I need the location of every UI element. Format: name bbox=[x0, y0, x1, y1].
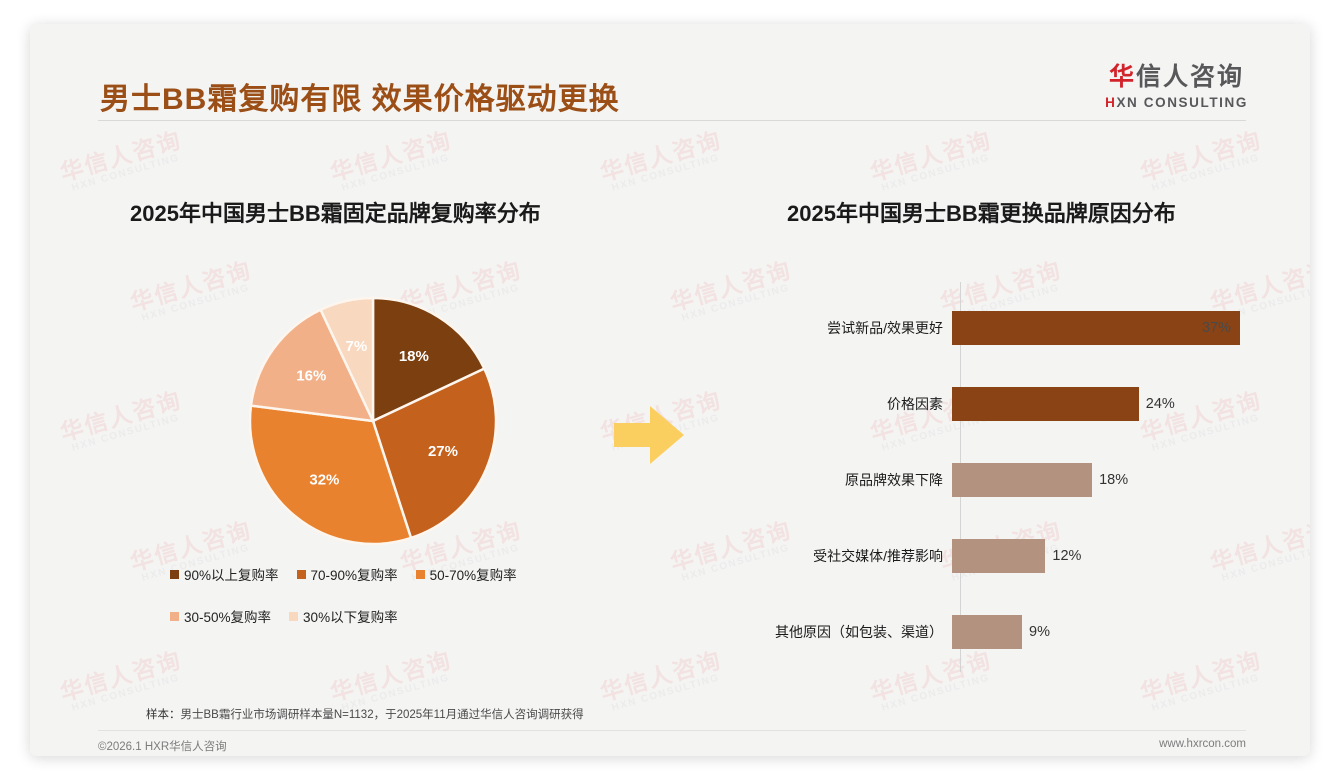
slide-footer: ©2026.1 HXR华信人咨询 www.hxrcon.com bbox=[98, 738, 1246, 754]
legend-label: 50-70%复购率 bbox=[430, 564, 517, 584]
footer-copyright: ©2026.1 HXR华信人咨询 bbox=[98, 738, 227, 754]
legend-item[interactable]: 30%以下复购率 bbox=[289, 606, 398, 626]
pie-chart-title: 2025年中国男士BB霜固定品牌复购率分布 bbox=[130, 196, 541, 228]
bar-fill bbox=[952, 311, 1240, 345]
legend-swatch-icon bbox=[170, 612, 179, 621]
bar-chart-row: 尝试新品/效果更好37% bbox=[770, 308, 1280, 348]
bar-chart-row: 受社交媒体/推荐影响12% bbox=[770, 536, 1280, 576]
bar-chart-row: 原品牌效果下降18% bbox=[770, 460, 1280, 500]
legend-label: 90%以上复购率 bbox=[184, 564, 279, 584]
pie-chart-legend: 90%以上复购率70-90%复购率50-70%复购率30-50%复购率30%以下… bbox=[170, 564, 600, 648]
legend-swatch-icon bbox=[289, 612, 298, 621]
bar-category-label: 尝试新品/效果更好 bbox=[770, 318, 952, 338]
footer-website: www.hxrcon.com bbox=[1159, 738, 1246, 754]
watermark: 华信人咨询HXN CONSULTING bbox=[58, 387, 188, 455]
watermark: 华信人咨询HXN CONSULTING bbox=[58, 127, 188, 195]
watermark: 华信人咨询HXN CONSULTING bbox=[598, 127, 728, 195]
legend-row: 30-50%复购率30%以下复购率 bbox=[170, 606, 600, 626]
bar-value-label: 24% bbox=[1146, 396, 1175, 412]
watermark: 华信人咨询HXN CONSULTING bbox=[868, 127, 998, 195]
legend-swatch-icon bbox=[170, 570, 179, 579]
bar-category-label: 原品牌效果下降 bbox=[770, 470, 952, 490]
bar-value-label: 12% bbox=[1052, 548, 1081, 564]
bar-fill bbox=[952, 463, 1092, 497]
watermark: 华信人咨询HXN CONSULTING bbox=[1138, 127, 1268, 195]
bar-chart-row: 其他原因（如包装、渠道）9% bbox=[770, 612, 1280, 652]
legend-item[interactable]: 70-90%复购率 bbox=[297, 564, 398, 584]
pie-slice-label: 16% bbox=[296, 368, 326, 385]
pie-slice-label: 7% bbox=[346, 338, 368, 355]
bar-track: 18% bbox=[952, 460, 1280, 500]
company-logo: 华信人咨询 HXN CONSULTING bbox=[1105, 64, 1248, 110]
bar-category-label: 其他原因（如包装、渠道） bbox=[770, 622, 952, 642]
bar-track: 9% bbox=[952, 612, 1280, 652]
bar-fill bbox=[952, 539, 1045, 573]
legend-label: 70-90%复购率 bbox=[311, 564, 398, 584]
slide-header: 男士BB霜复购有限 效果价格驱动更换 华信人咨询 HXN CONSULTING bbox=[30, 24, 1310, 124]
logo-chinese: 华信人咨询 bbox=[1105, 64, 1248, 92]
legend-swatch-icon bbox=[416, 570, 425, 579]
bar-chart: 尝试新品/效果更好37%价格因素24%原品牌效果下降18%受社交媒体/推荐影响1… bbox=[770, 282, 1280, 672]
legend-item[interactable]: 50-70%复购率 bbox=[416, 564, 517, 584]
header-divider bbox=[98, 120, 1246, 121]
pie-chart: 18%27%32%16%7% bbox=[248, 296, 498, 546]
legend-label: 30%以下复购率 bbox=[303, 606, 398, 626]
bar-chart-row: 价格因素24% bbox=[770, 384, 1280, 424]
right-arrow-svg bbox=[614, 402, 684, 468]
page-title: 男士BB霜复购有限 效果价格驱动更换 bbox=[100, 74, 620, 118]
pie-chart-svg: 18%27%32%16%7% bbox=[248, 296, 498, 546]
legend-swatch-icon bbox=[297, 570, 306, 579]
bar-fill bbox=[952, 615, 1022, 649]
bar-chart-title: 2025年中国男士BB霜更换品牌原因分布 bbox=[787, 196, 1176, 228]
right-arrow-icon bbox=[614, 402, 684, 468]
bar-value-label: 18% bbox=[1099, 472, 1128, 488]
legend-label: 30-50%复购率 bbox=[184, 606, 271, 626]
bar-category-label: 受社交媒体/推荐影响 bbox=[770, 546, 952, 566]
bar-fill bbox=[952, 387, 1139, 421]
bar-track: 24% bbox=[952, 384, 1280, 424]
footer-divider bbox=[98, 730, 1246, 731]
bar-value-label: 9% bbox=[1029, 624, 1050, 640]
logo-english: HXN CONSULTING bbox=[1105, 95, 1248, 110]
logo-en-red: H bbox=[1105, 95, 1116, 110]
legend-item[interactable]: 90%以上复购率 bbox=[170, 564, 279, 584]
footnote-lead: 样本： bbox=[146, 709, 181, 721]
pie-slice-label: 27% bbox=[428, 443, 458, 460]
pie-slice-label: 32% bbox=[309, 471, 339, 488]
bar-category-label: 价格因素 bbox=[770, 394, 952, 414]
watermark: 华信人咨询HXN CONSULTING bbox=[128, 257, 258, 325]
pie-slice-label: 18% bbox=[399, 348, 429, 365]
watermark: 华信人咨询HXN CONSULTING bbox=[328, 127, 458, 195]
legend-item[interactable]: 30-50%复购率 bbox=[170, 606, 271, 626]
bar-value-label: 37% bbox=[1202, 320, 1231, 336]
footnote-text: 男士BB霜行业市场调研样本量N=1132，于2025年11月通过华信人咨询调研获… bbox=[181, 709, 584, 721]
watermark: 华信人咨询HXN CONSULTING bbox=[598, 647, 728, 715]
logo-cn-red: 华 bbox=[1109, 63, 1136, 91]
source-footnote: 样本：男士BB霜行业市场调研样本量N=1132，于2025年11月通过华信人咨询… bbox=[146, 706, 584, 722]
logo-en-gray: XN CONSULTING bbox=[1116, 95, 1248, 110]
slide-canvas: 华信人咨询HXN CONSULTING华信人咨询HXN CONSULTING华信… bbox=[30, 24, 1310, 756]
legend-row: 90%以上复购率70-90%复购率50-70%复购率 bbox=[170, 564, 600, 584]
bar-track: 37% bbox=[952, 308, 1280, 348]
logo-cn-gray: 信人咨询 bbox=[1136, 63, 1244, 91]
bar-track: 12% bbox=[952, 536, 1280, 576]
